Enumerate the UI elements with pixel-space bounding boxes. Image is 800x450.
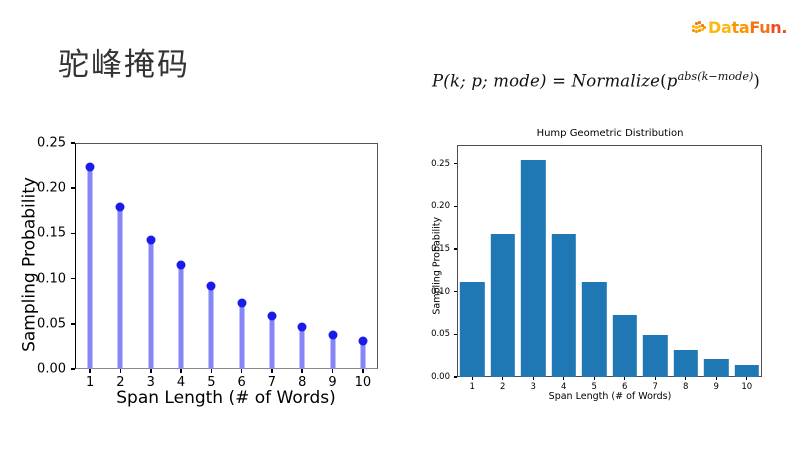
left-x-tick-label: 2 (116, 376, 124, 389)
right-y-tick (454, 206, 457, 207)
right-y-tick-label: 0.15 (400, 245, 450, 254)
right-x-tick-label: 6 (622, 383, 627, 392)
right-x-tick-label: 5 (592, 383, 597, 392)
left-y-tick (71, 323, 75, 325)
right-x-tick (746, 377, 747, 380)
stem-line (269, 316, 274, 369)
right-x-tick (533, 377, 534, 380)
right-x-tick (716, 377, 717, 380)
stem-marker (177, 261, 186, 270)
stem-line (88, 167, 93, 369)
stem-marker (116, 203, 125, 212)
bar (491, 234, 515, 377)
stem-line (330, 335, 335, 369)
right-y-tick-label: 0.10 (400, 287, 450, 296)
right-y-tick (454, 376, 457, 377)
right-x-tick-label: 3 (531, 383, 536, 392)
stem-marker (86, 162, 95, 171)
left-x-tick-label: 7 (268, 376, 276, 389)
left-x-tick-label: 5 (207, 376, 215, 389)
left-y-tick-label: 0.10 (0, 272, 66, 285)
right-x-tick (472, 377, 473, 380)
right-x-tick-label: 10 (741, 383, 752, 392)
geometric-stem-chart: Sampling Probability Span Length (# of W… (0, 0, 400, 450)
stem-line (239, 303, 244, 369)
bar (735, 365, 759, 377)
left-y-tick-label: 0.25 (0, 137, 66, 150)
left-x-tick (211, 369, 213, 373)
left-x-tick (362, 369, 364, 373)
hump-geometric-bar-chart: Hump Geometric Distribution Sampling Pro… (400, 0, 800, 450)
left-x-tick (120, 369, 122, 373)
stem-marker (146, 235, 155, 244)
right-x-tick (502, 377, 503, 380)
right-y-tick (454, 248, 457, 249)
bar (674, 350, 698, 377)
stem-marker (328, 330, 337, 339)
left-x-tick (150, 369, 152, 373)
right-x-tick (624, 377, 625, 380)
stem-line (179, 265, 184, 369)
right-y-tick-label: 0.00 (400, 373, 450, 382)
left-y-tick (71, 187, 75, 189)
right-x-tick-label: 2 (500, 383, 505, 392)
stem-line (300, 327, 305, 369)
right-y-tick (454, 334, 457, 335)
left-y-tick-label: 0.05 (0, 317, 66, 330)
stem-marker (298, 322, 307, 331)
left-x-tick (271, 369, 273, 373)
left-y-tick (71, 233, 75, 235)
bar (521, 160, 545, 377)
right-x-tick-label: 4 (561, 383, 566, 392)
bar (552, 234, 576, 377)
right-y-tick-label: 0.25 (400, 160, 450, 169)
right-x-tick (655, 377, 656, 380)
stem-line (148, 240, 153, 369)
left-y-tick (71, 368, 75, 370)
left-x-tick-label: 6 (238, 376, 246, 389)
left-y-tick-label: 0.15 (0, 227, 66, 240)
left-x-axis-title: Span Length (# of Words) (116, 390, 335, 407)
right-y-tick-label: 0.05 (400, 330, 450, 339)
right-x-tick-label: 9 (714, 383, 719, 392)
bar (704, 359, 728, 377)
right-x-axis-title: Span Length (# of Words) (549, 392, 672, 402)
left-y-tick-label: 0.20 (0, 182, 66, 195)
right-x-tick (685, 377, 686, 380)
left-x-tick-label: 8 (298, 376, 306, 389)
stem-line (118, 207, 123, 369)
right-x-tick (563, 377, 564, 380)
left-x-tick (89, 369, 91, 373)
right-y-tick (454, 291, 457, 292)
right-x-tick (594, 377, 595, 380)
left-y-tick-label: 0.00 (0, 363, 66, 376)
left-x-tick (332, 369, 334, 373)
right-chart-title: Hump Geometric Distribution (537, 129, 684, 139)
left-x-tick (180, 369, 182, 373)
stem-marker (267, 311, 276, 320)
left-y-tick (71, 142, 75, 144)
bar (643, 335, 667, 377)
left-x-tick-label: 4 (177, 376, 185, 389)
right-y-tick-label: 0.20 (400, 202, 450, 211)
right-x-tick-label: 8 (683, 383, 688, 392)
left-x-tick-label: 3 (147, 376, 155, 389)
bar (582, 282, 606, 377)
left-y-tick (71, 278, 75, 280)
bar (460, 282, 484, 377)
right-x-tick-label: 1 (470, 383, 475, 392)
stem-marker (358, 336, 367, 345)
bar (613, 315, 637, 377)
left-x-tick-label: 1 (86, 376, 94, 389)
stem-marker (207, 281, 216, 290)
right-x-tick-label: 7 (653, 383, 658, 392)
stem-marker (237, 299, 246, 308)
right-y-tick (454, 163, 457, 164)
left-x-tick (241, 369, 243, 373)
left-x-tick (301, 369, 303, 373)
left-x-tick-label: 9 (328, 376, 336, 389)
left-x-tick-label: 10 (355, 376, 372, 389)
stem-line (209, 286, 214, 369)
